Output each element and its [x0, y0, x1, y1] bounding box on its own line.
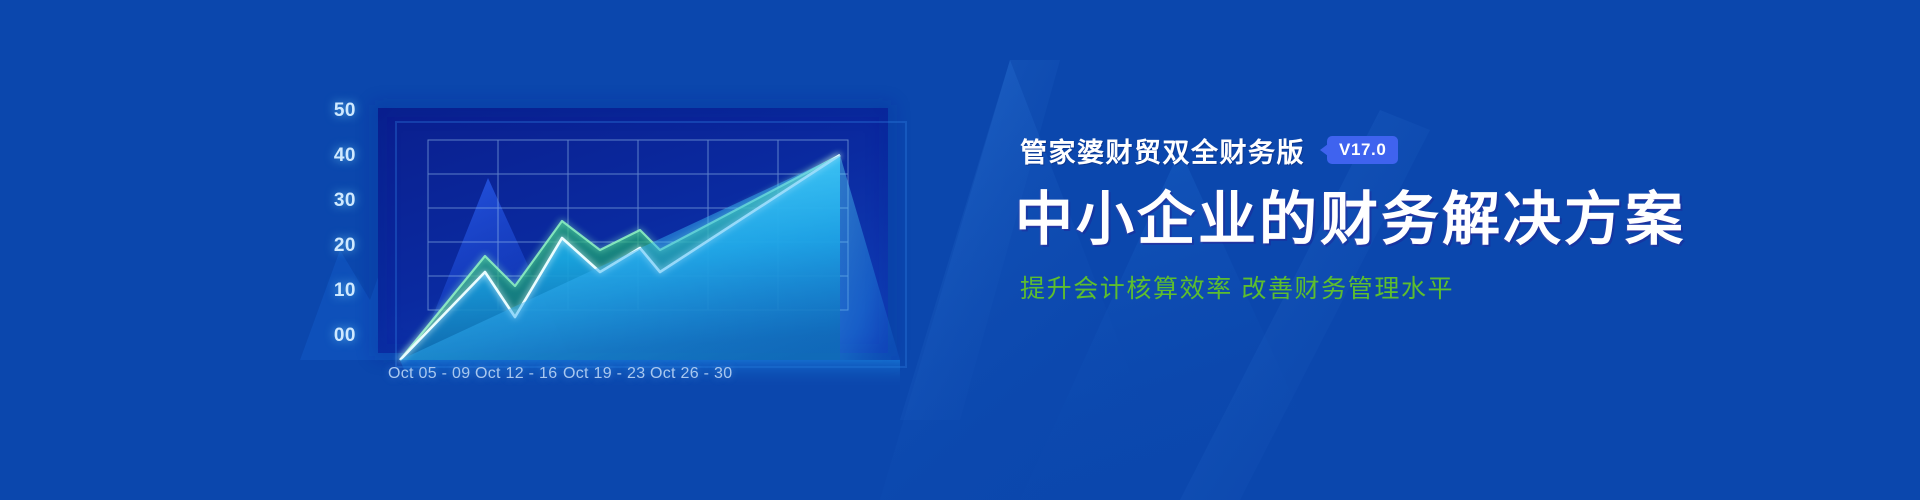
chart-x-axis: Oct 05 - 09 Oct 12 - 16 Oct 19 - 23 Oct … — [378, 365, 998, 391]
promo-copy: 管家婆财贸双全财务版 V17.0 中小企业的财务解决方案 提升会计核算效率 改善… — [1015, 130, 1835, 305]
x-tick: Oct 12 - 16 — [475, 365, 557, 383]
version-badge: V17.0 — [1327, 136, 1398, 164]
x-tick: Oct 26 - 30 — [650, 365, 732, 383]
revenue-chart: 50 40 30 20 10 00 — [300, 60, 1000, 420]
headline: 中小企业的财务解决方案 — [1015, 188, 1835, 253]
brand-row: 管家婆财贸双全财务版 V17.0 — [1020, 130, 1835, 170]
subheadline: 提升会计核算效率 改善财务管理水平 — [1020, 269, 1835, 305]
x-tick: Oct 05 - 09 — [388, 365, 470, 383]
brand-name: 管家婆财贸双全财务版 — [1020, 131, 1305, 170]
x-tick: Oct 19 - 23 — [563, 365, 645, 383]
promo-banner: 50 40 30 20 10 00 — [0, 0, 1920, 500]
